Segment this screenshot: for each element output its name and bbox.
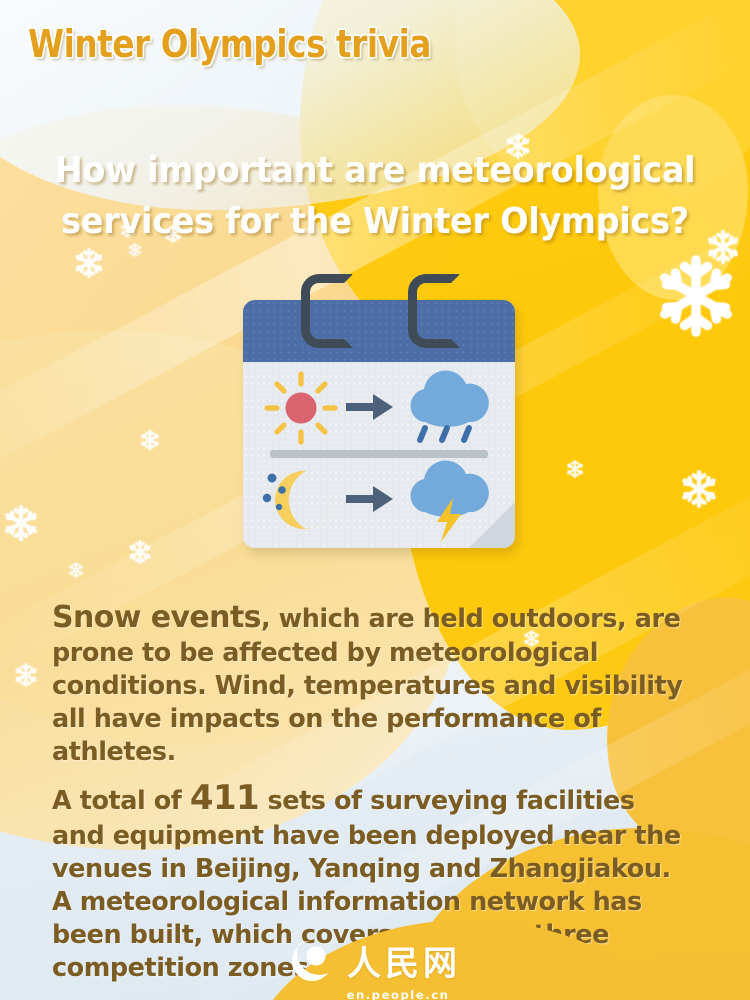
- headline-line-2: services for the Winter Olympics?: [47, 196, 704, 247]
- arrow-right-icon: [346, 392, 394, 422]
- rain-cloud-icon: [401, 366, 495, 448]
- calendar-divider: [270, 450, 488, 458]
- calendar-ring-icon: [301, 274, 353, 348]
- headline-line-1: How important are meteorological: [47, 145, 704, 196]
- brand-row: 人民网: [289, 936, 461, 985]
- arrow-right-icon: [346, 484, 394, 514]
- sun-icon: [263, 370, 339, 446]
- statistic-number: 411: [190, 778, 259, 818]
- brand-url: en.people.cn: [347, 988, 450, 1000]
- snowflake-icon: [3, 505, 39, 545]
- snowflake-icon: [74, 248, 104, 282]
- calendar-body: [243, 300, 515, 548]
- snowflake-icon: [68, 562, 84, 582]
- snowflake-icon: [128, 540, 152, 568]
- paragraph-2-pre: A total of: [52, 786, 190, 816]
- weather-calendar-illustration: [243, 272, 515, 548]
- brand-name-cn: 人民网: [347, 936, 461, 985]
- page-title: How important are meteorological service…: [0, 145, 750, 247]
- snowflake-icon: [14, 663, 38, 691]
- poster-kicker-title: Winter Olympics trivia: [28, 22, 431, 66]
- calendar-ring-icon: [408, 274, 460, 348]
- calendar-row-night: [243, 462, 515, 534]
- infographic-poster: Winter Olympics trivia How important are…: [0, 0, 750, 1000]
- calendar-row-day: [243, 368, 515, 440]
- thunderstorm-cloud-icon: [401, 458, 495, 544]
- site-branding: 人民网 en.people.cn: [0, 936, 750, 1000]
- people-daily-globe-icon: [289, 938, 335, 984]
- snowflake-icon: [140, 430, 160, 454]
- body-paragraph-1: Snow events, which are held outdoors, ar…: [52, 598, 692, 770]
- paragraph-lead-phrase: Snow events: [52, 600, 261, 635]
- snowflake-icon: [566, 460, 584, 482]
- calendar-header-band: [243, 300, 515, 365]
- crescent-moon-icon: [259, 460, 343, 540]
- snowflake-icon: [680, 470, 718, 512]
